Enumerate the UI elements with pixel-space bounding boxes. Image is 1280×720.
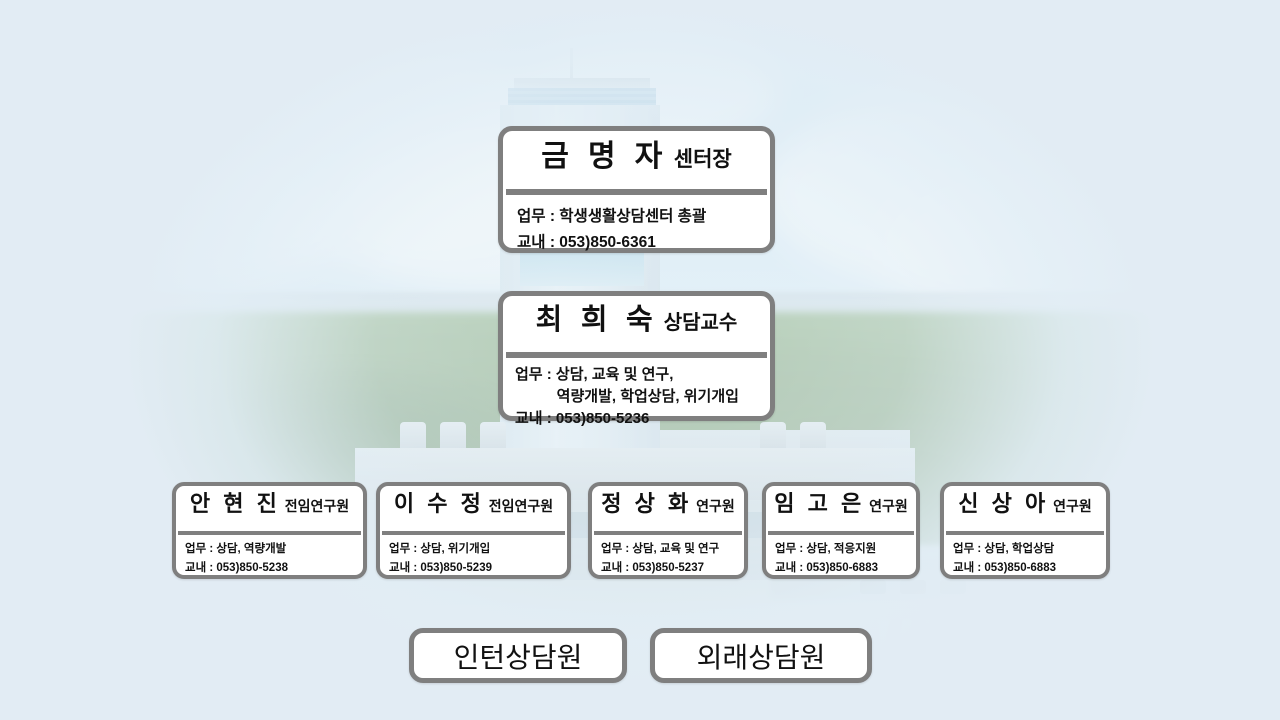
org-node-external-counselor[interactable]: 외래상담원 — [650, 628, 872, 683]
staff-details: 업무 : 상담, 학업상담 교내 : 053)850-6883 — [944, 535, 1106, 578]
org-node-staff[interactable]: 정 상 화 연구원 업무 : 상담, 교육 및 연구 교내 : 053)850-… — [588, 482, 748, 579]
staff-header: 안 현 진 전임연구원 — [176, 486, 363, 531]
staff-header: 임 고 은 연구원 — [766, 486, 916, 531]
staff-role: 연구원 — [696, 496, 735, 516]
staff-role: 전임연구원 — [489, 496, 553, 516]
staff-name: 이 수 정 — [394, 486, 489, 518]
director-name: 금 명 자 — [541, 131, 673, 175]
staff-details: 업무 : 상담, 역량개발 교내 : 053)850-5238 — [176, 535, 363, 578]
staff-role: 연구원 — [869, 496, 908, 516]
org-node-staff[interactable]: 이 수 정 전임연구원 업무 : 상담, 위기개입 교내 : 053)850-5… — [376, 482, 571, 579]
staff-header: 신 상 아 연구원 — [944, 486, 1106, 531]
professor-header: 최 희 숙 상담교수 — [503, 296, 770, 352]
staff-name: 정 상 화 — [601, 486, 696, 518]
org-node-intern-counselor[interactable]: 인턴상담원 — [409, 628, 627, 683]
staff-header: 정 상 화 연구원 — [592, 486, 744, 531]
intern-counselor-label: 인턴상담원 — [454, 636, 583, 676]
org-chart-stage: 금 명 자 센터장 업무 : 학생생활상담센터 총괄 교내 : 053)850-… — [0, 0, 1280, 720]
staff-details: 업무 : 상담, 적응지원 교내 : 053)850-6883 — [766, 535, 916, 578]
staff-phone: 교내 : 053)850-6883 — [775, 559, 916, 578]
staff-phone: 교내 : 053)850-5239 — [389, 559, 567, 578]
staff-phone: 교내 : 053)850-5237 — [601, 559, 744, 578]
org-node-staff[interactable]: 임 고 은 연구원 업무 : 상담, 적응지원 교내 : 053)850-688… — [762, 482, 920, 579]
director-phone: 교내 : 053)850-6361 — [517, 230, 770, 256]
professor-duty-line-1: 업무 : 상담, 교육 및 연구, — [515, 364, 770, 386]
staff-name: 안 현 진 — [190, 486, 285, 518]
external-counselor-label: 외래상담원 — [697, 636, 826, 676]
org-node-professor[interactable]: 최 희 숙 상담교수 업무 : 상담, 교육 및 연구, 역량개발, 학업상담,… — [498, 291, 775, 421]
staff-details: 업무 : 상담, 교육 및 연구 교내 : 053)850-5237 — [592, 535, 744, 578]
director-duty: 업무 : 학생생활상담센터 총괄 — [517, 204, 770, 230]
director-role: 센터장 — [674, 143, 732, 173]
professor-details: 업무 : 상담, 교육 및 연구, 역량개발, 학업상담, 위기개입 교내 : … — [503, 358, 770, 430]
professor-duty-line-2: 역량개발, 학업상담, 위기개입 — [515, 386, 770, 408]
professor-phone: 교내 : 053)850-5236 — [515, 408, 770, 430]
staff-header: 이 수 정 전임연구원 — [380, 486, 567, 531]
staff-name: 신 상 아 — [958, 486, 1053, 518]
director-details: 업무 : 학생생활상담센터 총괄 교내 : 053)850-6361 — [503, 195, 770, 256]
staff-duty: 업무 : 상담, 학업상담 — [953, 540, 1106, 559]
staff-duty: 업무 : 상담, 위기개입 — [389, 540, 567, 559]
staff-phone: 교내 : 053)850-5238 — [185, 559, 363, 578]
staff-duty: 업무 : 상담, 적응지원 — [775, 540, 916, 559]
staff-role: 연구원 — [1053, 496, 1092, 516]
staff-duty: 업무 : 상담, 역량개발 — [185, 540, 363, 559]
org-node-director[interactable]: 금 명 자 센터장 업무 : 학생생활상담센터 총괄 교내 : 053)850-… — [498, 126, 775, 253]
org-node-staff[interactable]: 안 현 진 전임연구원 업무 : 상담, 역량개발 교내 : 053)850-5… — [172, 482, 367, 579]
professor-role: 상담교수 — [664, 306, 738, 335]
director-header: 금 명 자 센터장 — [503, 131, 770, 189]
org-node-staff[interactable]: 신 상 아 연구원 업무 : 상담, 학업상담 교내 : 053)850-688… — [940, 482, 1110, 579]
staff-role: 전임연구원 — [285, 496, 349, 516]
staff-duty: 업무 : 상담, 교육 및 연구 — [601, 540, 744, 559]
staff-phone: 교내 : 053)850-6883 — [953, 559, 1106, 578]
staff-details: 업무 : 상담, 위기개입 교내 : 053)850-5239 — [380, 535, 567, 578]
staff-name: 임 고 은 — [774, 486, 869, 518]
professor-name: 최 희 숙 — [536, 296, 664, 338]
